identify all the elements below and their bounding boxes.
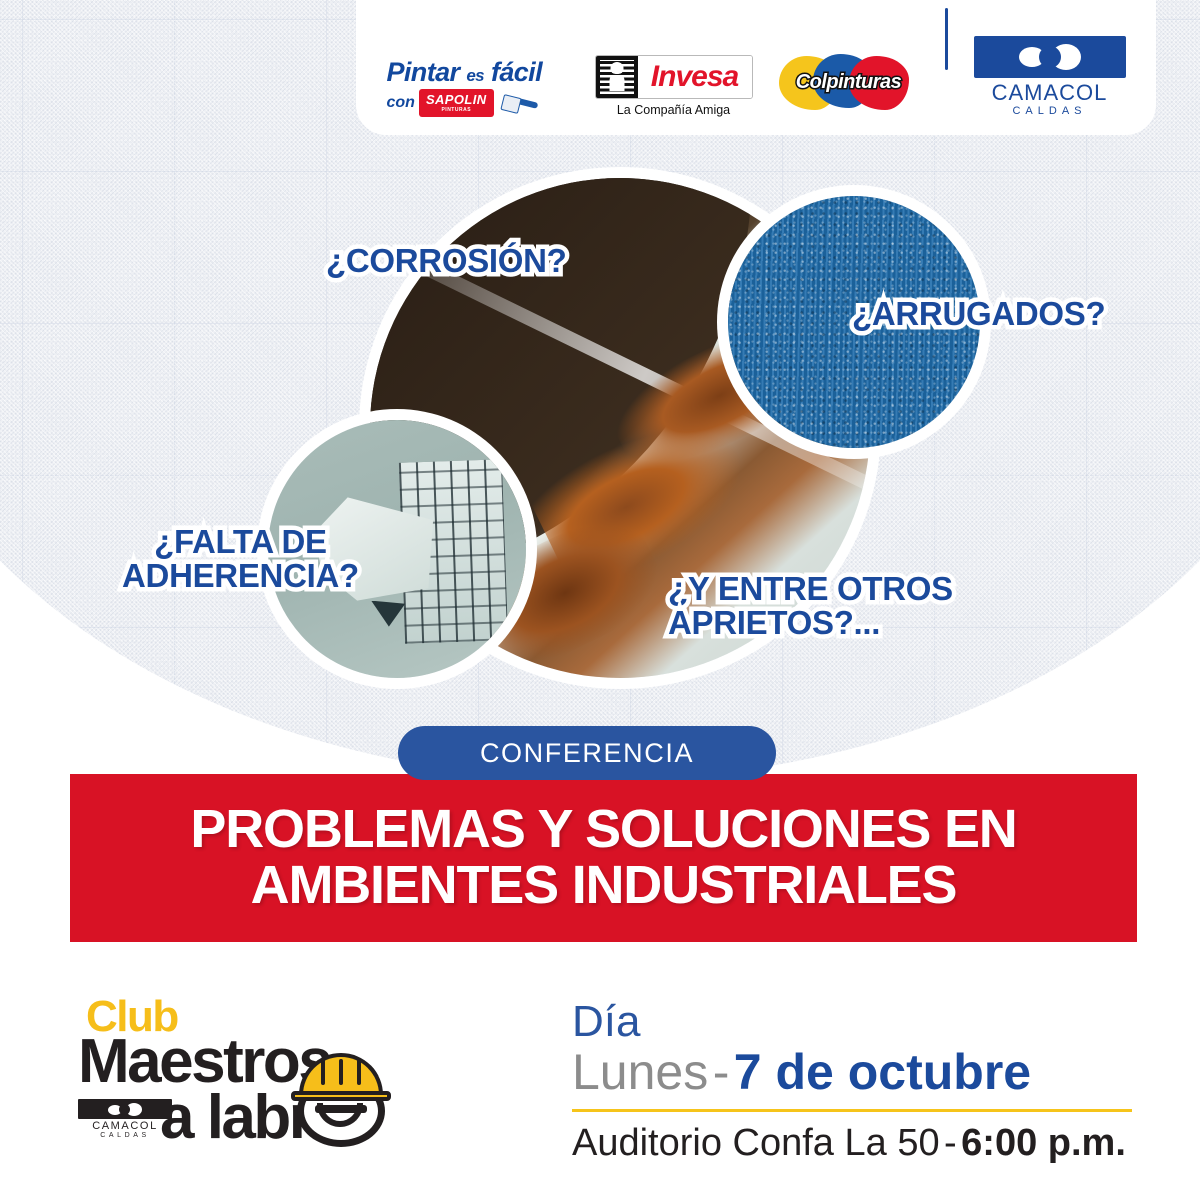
event-venue: Auditorio Confa La 50	[572, 1122, 940, 1164]
event-title-band: PROBLEMAS Y SOLUCIONES EN AMBIENTES INDU…	[70, 774, 1137, 942]
sapolin-slogan-pintar: Pintar	[387, 57, 460, 87]
club-logo-camacol-mark: CAMACOL CALDAS	[78, 1099, 172, 1139]
paint-brush-icon	[496, 95, 538, 111]
colpinturas-name: Colpinturas	[796, 71, 902, 94]
event-weekday: Lunes	[572, 1044, 708, 1100]
invesa-tagline: La Compañía Amiga	[595, 103, 753, 117]
sapolin-con-label: con	[387, 94, 415, 112]
sponsor-logo-colpinturas: Colpinturas	[779, 47, 919, 117]
event-day-label: Día	[572, 1000, 1132, 1044]
event-date-row: Lunes - 7 de octubre	[572, 1046, 1132, 1099]
event-details: Día Lunes - 7 de octubre Auditorio Confa…	[572, 1000, 1132, 1165]
event-divider-rule	[572, 1109, 1132, 1112]
conferencia-badge-label: CONFERENCIA	[480, 738, 694, 769]
label-arrugados: ¿ARRUGADOS?	[852, 297, 1105, 331]
event-title-line-2: AMBIENTES INDUSTRIALES	[251, 858, 957, 914]
conferencia-badge: CONFERENCIA	[398, 726, 776, 780]
club-logo-camacol-name: CAMACOL	[78, 1120, 172, 1132]
worker-helmet-smiley-icon	[293, 1053, 389, 1149]
event-time: 6:00 p.m.	[961, 1122, 1126, 1164]
sapolin-brand-name: SAPOLIN	[426, 92, 487, 107]
camacol-small-eye-icon	[108, 1103, 142, 1116]
event-date: 7 de octubre	[734, 1044, 1031, 1100]
sapolin-slogan-facil: fácil	[491, 57, 542, 87]
poster-root: Pintar es fácil con SAPOLIN PINTURAS	[0, 0, 1200, 1200]
camacol-name: CAMACOL	[974, 80, 1126, 105]
sapolin-slogan: Pintar es fácil	[387, 59, 569, 86]
sponsor-logo-camacol: CAMACOL CALDAS	[974, 36, 1126, 117]
sponsor-logo-invesa: Invesa La Compañía Amiga	[595, 55, 753, 117]
event-venue-separator: -	[944, 1122, 957, 1164]
club-maestros-logo: Club Maestros a labra CAMACOL CALDAS	[78, 995, 518, 1155]
sponsor-logo-sapolin: Pintar es fácil con SAPOLIN PINTURAS	[387, 59, 569, 117]
sponsor-divider	[945, 8, 948, 70]
sapolin-brand-chip: SAPOLIN PINTURAS	[419, 89, 494, 117]
sapolin-slogan-es: es	[466, 66, 484, 85]
invesa-name: Invesa	[651, 60, 738, 94]
camacol-eye-icon	[1019, 44, 1081, 70]
label-corrosion: ¿CORROSIÓN?	[326, 244, 567, 278]
camacol-region: CALDAS	[974, 105, 1126, 117]
club-logo-ala-word: a la	[160, 1083, 253, 1152]
label-otros-aprietos: ¿Y ENTRE OTROS APRIETOS?...	[668, 572, 953, 639]
sapolin-brand-sub: PINTURAS	[426, 107, 487, 113]
club-logo-camacol-region: CALDAS	[78, 1132, 172, 1139]
label-falta-adherencia: ¿FALTA DE ADHERENCIA?	[122, 525, 359, 592]
event-title-line-1: PROBLEMAS Y SOLUCIONES EN	[190, 802, 1016, 858]
invesa-mark-icon	[596, 56, 638, 98]
sponsor-logo-bar: Pintar es fácil con SAPOLIN PINTURAS	[356, 0, 1156, 135]
event-date-separator: -	[713, 1044, 730, 1100]
event-venue-row: Auditorio Confa La 50 - 6:00 p.m.	[572, 1122, 1132, 1165]
